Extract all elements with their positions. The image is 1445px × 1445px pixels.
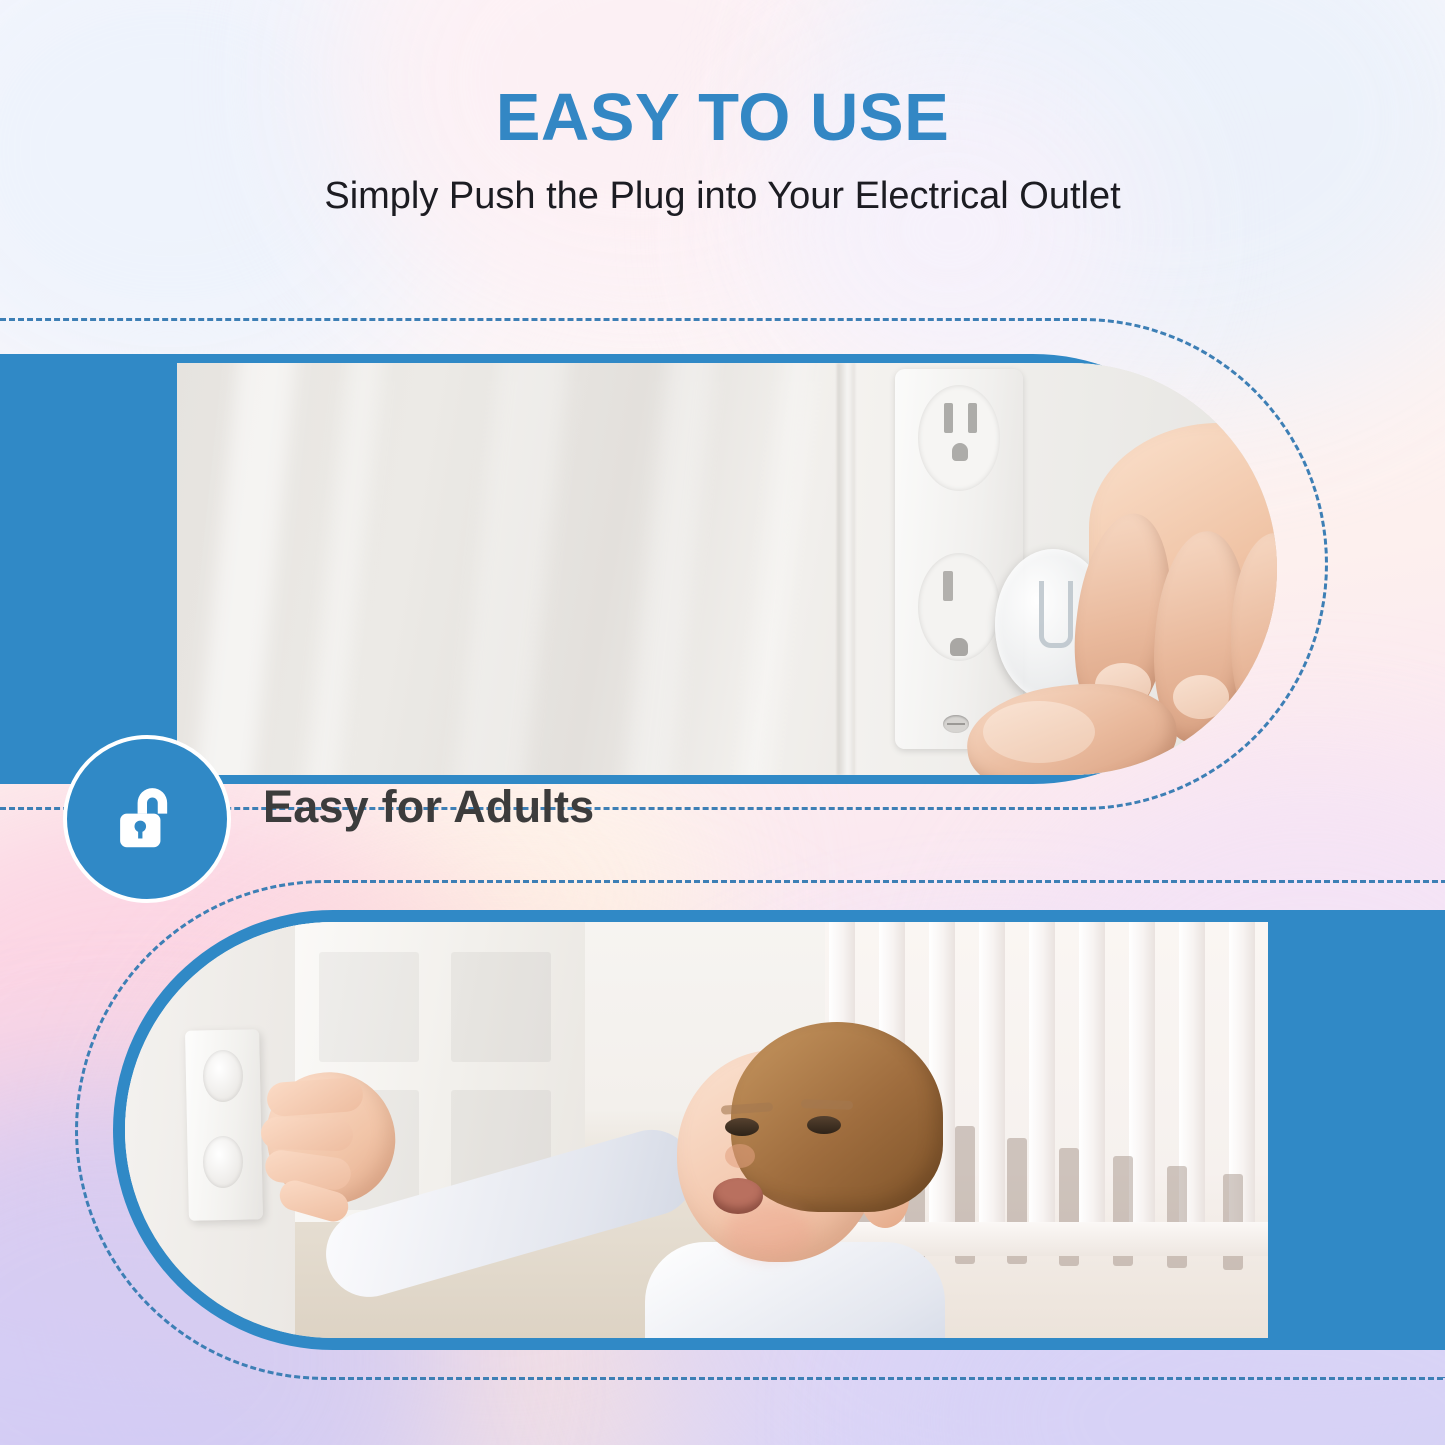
photo-adult-inserting-outlet-cover — [177, 363, 1277, 775]
header: EASY TO USE Simply Push the Plug into Yo… — [0, 0, 1445, 215]
infographic-canvas: EASY TO USE Simply Push the Plug into Yo… — [0, 0, 1445, 1445]
photo-baby-reaching-covered-outlet — [125, 922, 1268, 1338]
page-subtitle: Simply Push the Plug into Your Electrica… — [0, 177, 1445, 215]
page-title: EASY TO USE — [0, 84, 1445, 151]
panel-hard-for-toddlers: Hard for Toddlers — [75, 880, 1445, 1390]
unlock-icon-badge — [63, 735, 231, 903]
panel-label-easy-for-adults: Easy for Adults — [263, 781, 594, 833]
unlock-icon — [104, 776, 190, 862]
panel-easy-for-adults: Easy for Adults — [0, 318, 1330, 818]
